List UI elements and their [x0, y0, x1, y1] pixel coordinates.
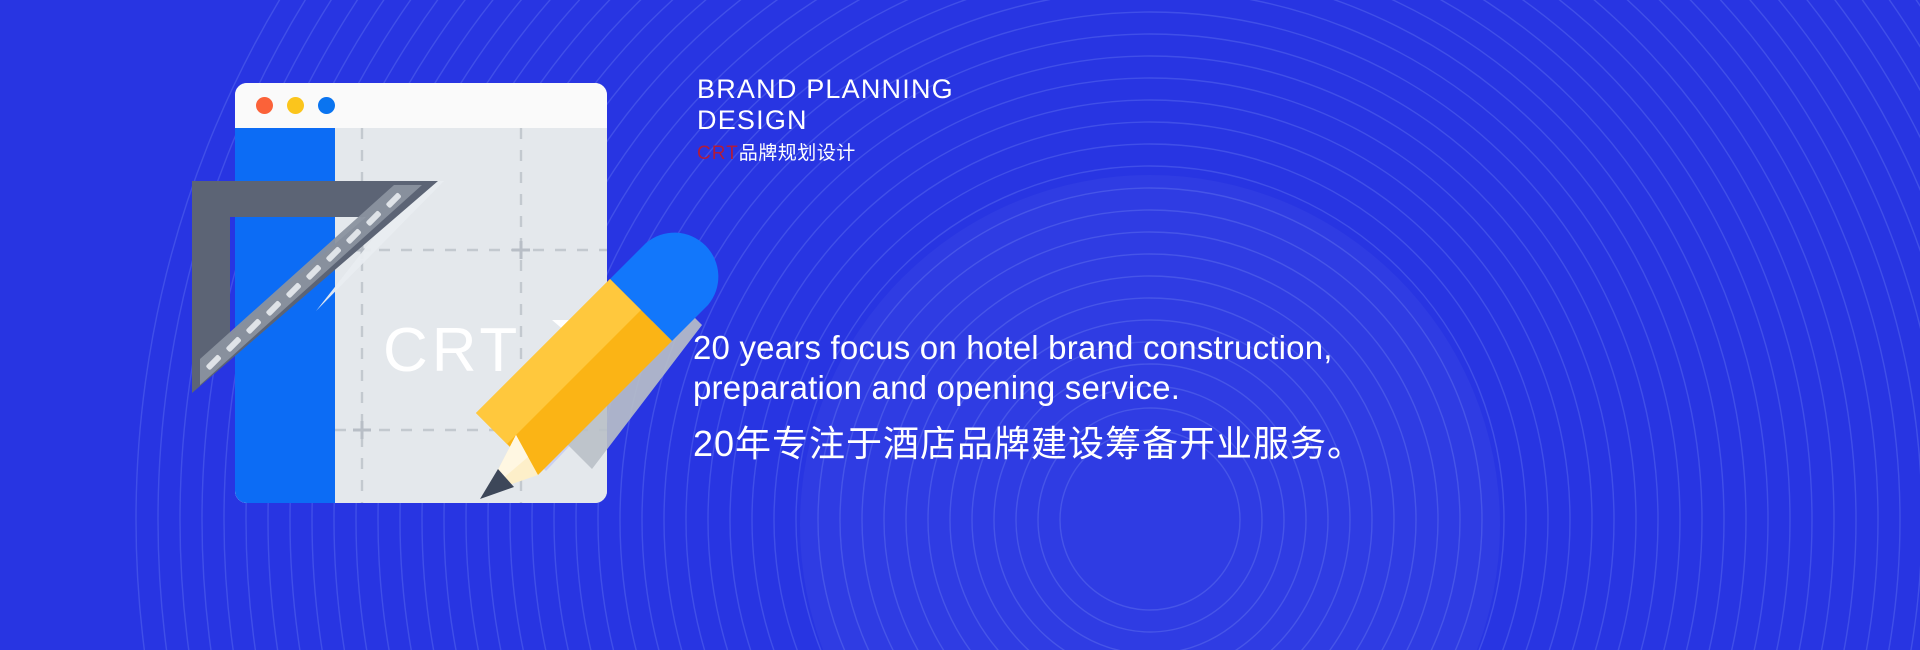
tagline-block: 20 years focus on hotel brand constructi… — [693, 328, 1413, 466]
tagline-english-line-1: 20 years focus on hotel brand constructi… — [693, 328, 1413, 368]
brand-banner: CRT — [0, 0, 1920, 650]
window-controls — [256, 97, 335, 114]
hero-illustration: CRT — [186, 60, 746, 540]
tagline-chinese: 20年专注于酒店品牌建设筹备开业服务。 — [693, 422, 1413, 466]
maximize-dot-icon — [318, 97, 335, 114]
tagline-english-line-2: preparation and opening service. — [693, 368, 1413, 408]
triangle-ruler-icon — [186, 145, 456, 395]
headline-line-2: DESIGN — [697, 105, 1337, 136]
headline-block: BRAND PLANNING DESIGN CRT品牌规划设计 — [697, 74, 1337, 165]
close-dot-icon — [256, 97, 273, 114]
window-titlebar — [235, 83, 607, 128]
subtitle-chinese-text: 品牌规划设计 — [739, 143, 856, 164]
subtitle-brand-mark: CRT — [697, 143, 739, 164]
headline-line-1: BRAND PLANNING — [697, 74, 1337, 105]
minimize-dot-icon — [287, 97, 304, 114]
headline-subtitle: CRT品牌规划设计 — [697, 143, 1337, 165]
